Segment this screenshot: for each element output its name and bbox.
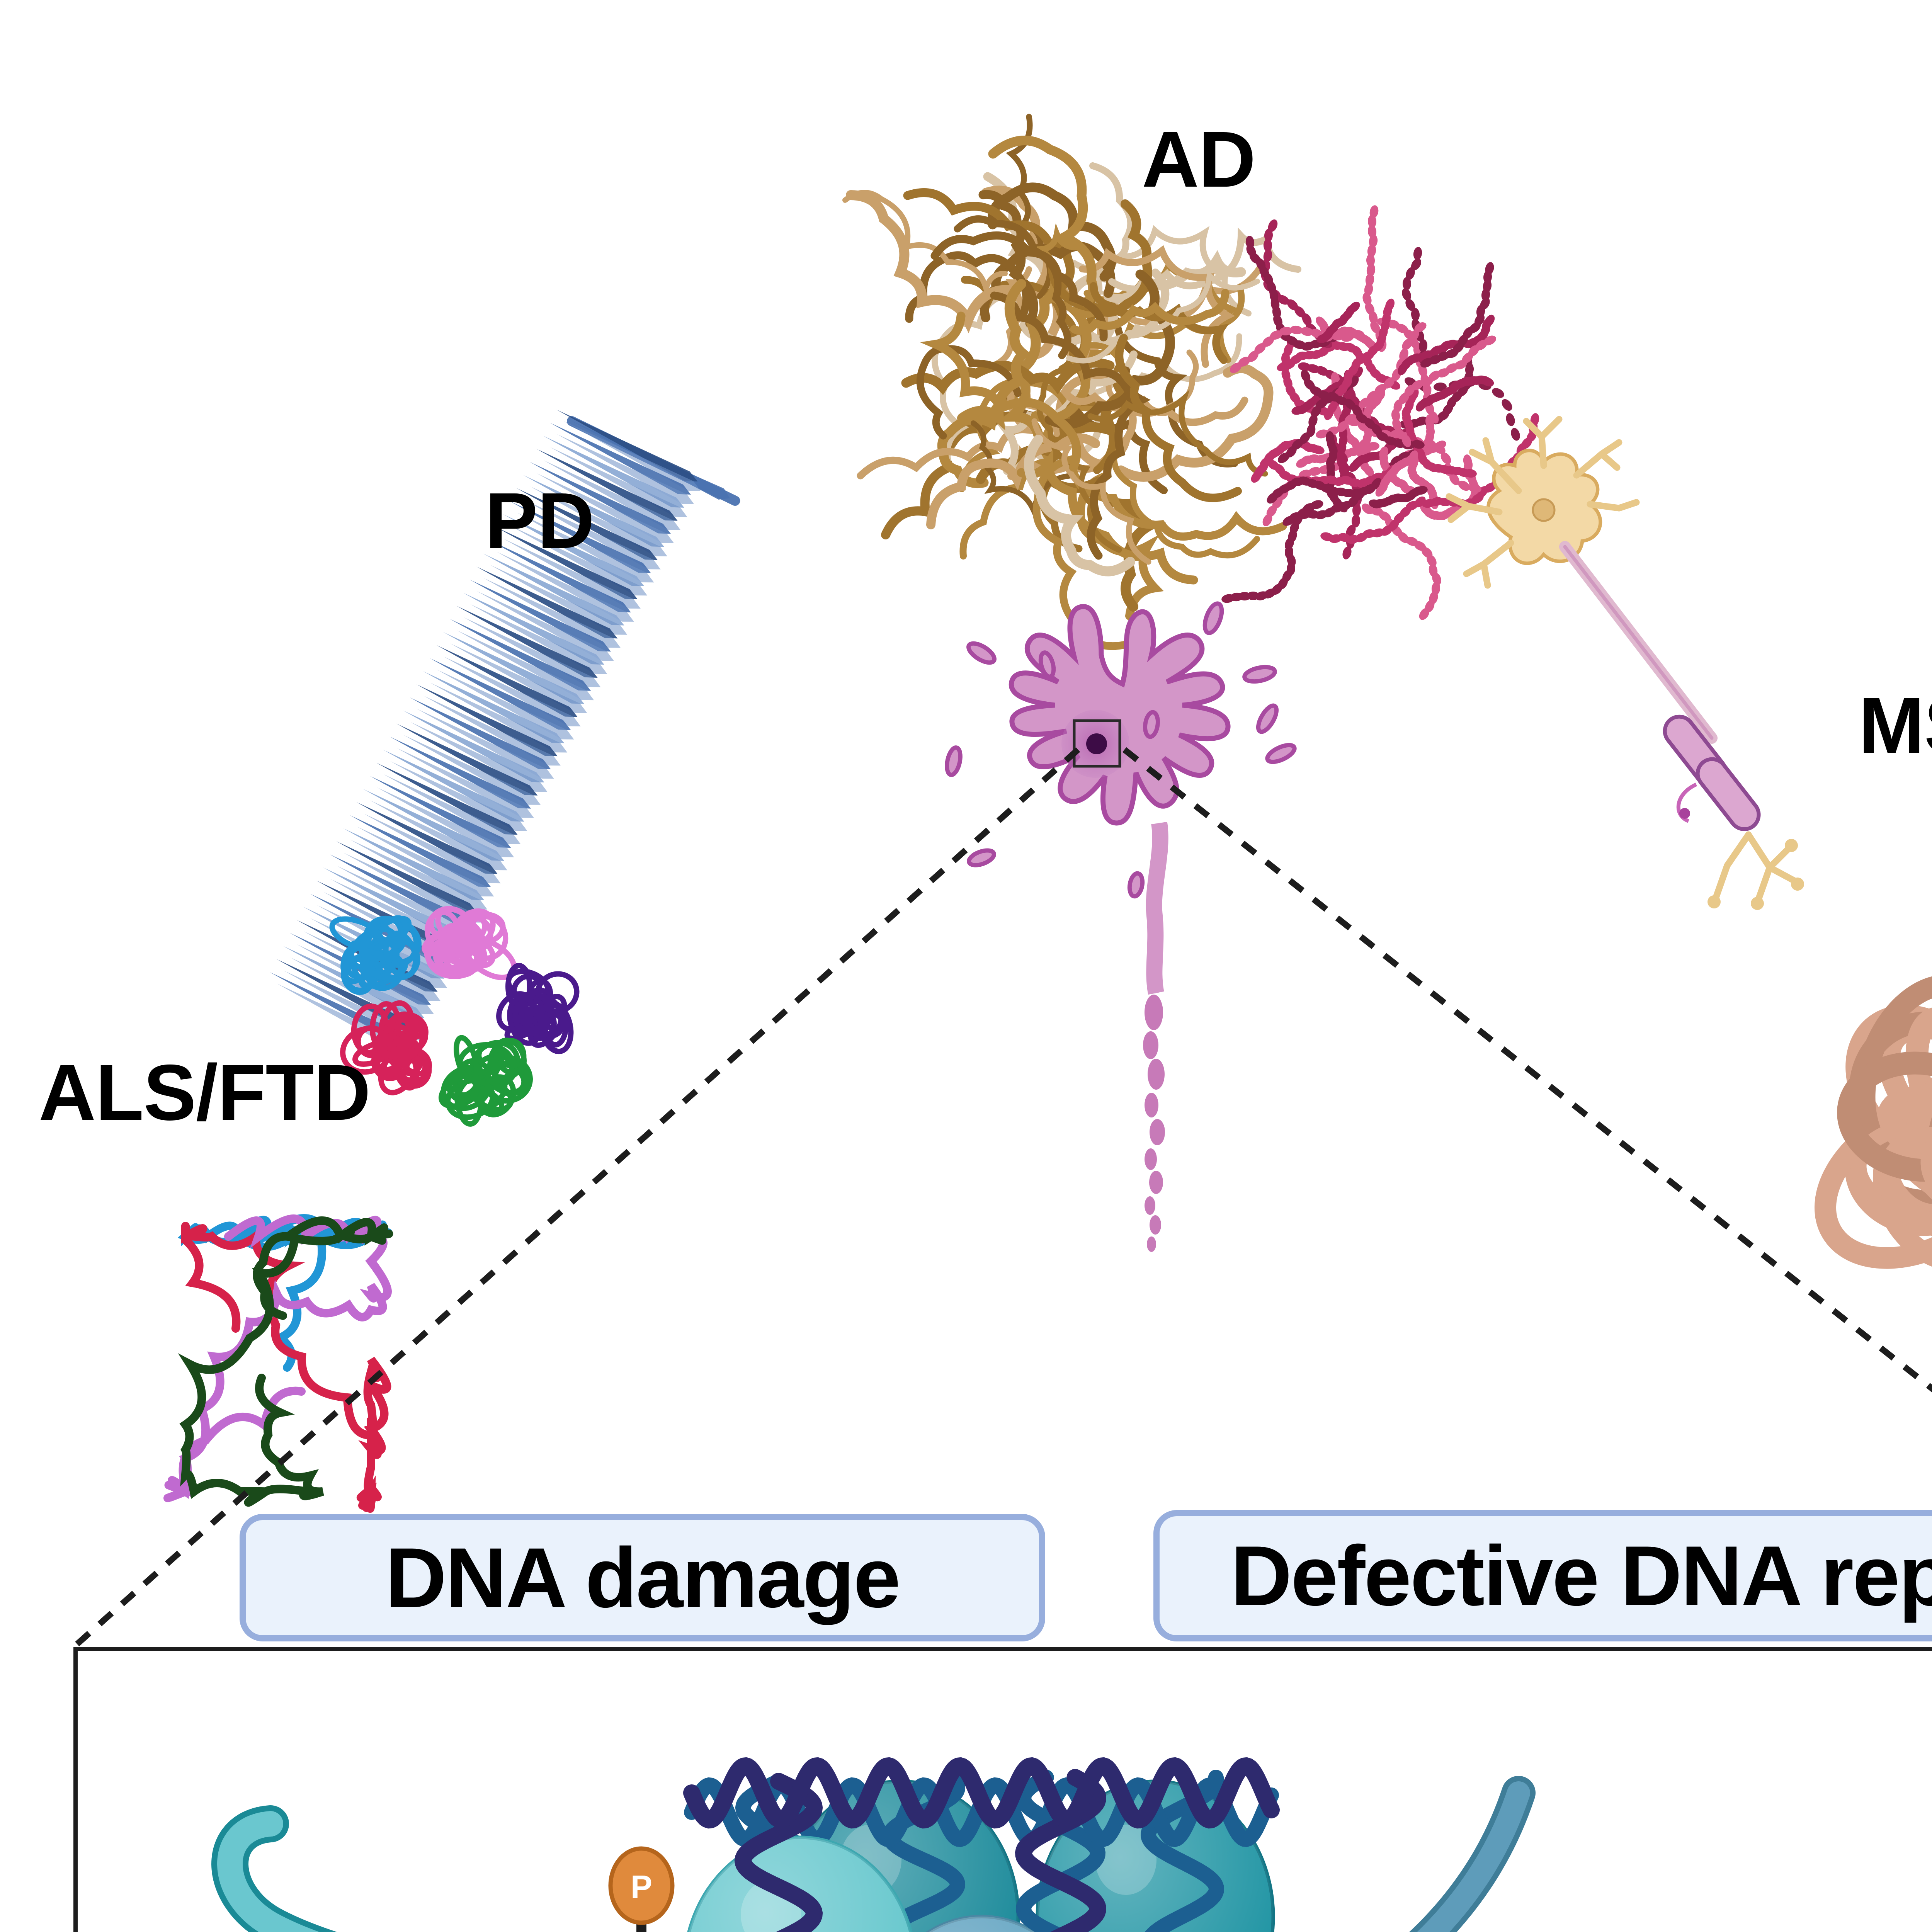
- callout-label-dna-damage: DNA damage: [385, 1535, 900, 1620]
- figure-root: AD PD MS HD ALS/FTD DNA damage Defective…: [0, 0, 1932, 1932]
- callout-box-dna-damage: DNA damage: [240, 1514, 1045, 1641]
- tdp43-subunit: [421, 903, 521, 985]
- amyloid-bead: [1505, 412, 1516, 427]
- callout-label-defective-dna-repair: Defective DNA repair: [1231, 1533, 1932, 1618]
- central-astrocyte: [945, 601, 1297, 1252]
- amyloid-bead: [1490, 386, 1506, 400]
- artwork-layer: [0, 0, 1932, 1932]
- hd-aggregate: [1798, 968, 1932, 1290]
- tdp43-subunit: [436, 1034, 531, 1125]
- amyloid-bead: [1509, 427, 1521, 442]
- amyloid-bead: [1500, 397, 1514, 413]
- ms-neuron: [1449, 419, 1804, 910]
- callout-box-defective-dna-repair: Defective DNA repair: [1153, 1510, 1932, 1641]
- disease-label-als-ftd: ALS/FTD: [39, 1053, 370, 1132]
- disease-label-ms: MS: [1859, 686, 1932, 765]
- disease-label-ad: AD: [1142, 120, 1255, 199]
- als-tdp43-monomer: [168, 1218, 389, 1509]
- amyloid-bead: [1413, 247, 1423, 261]
- zoom-panel: [73, 1647, 1932, 1932]
- disease-label-pd: PD: [485, 481, 594, 560]
